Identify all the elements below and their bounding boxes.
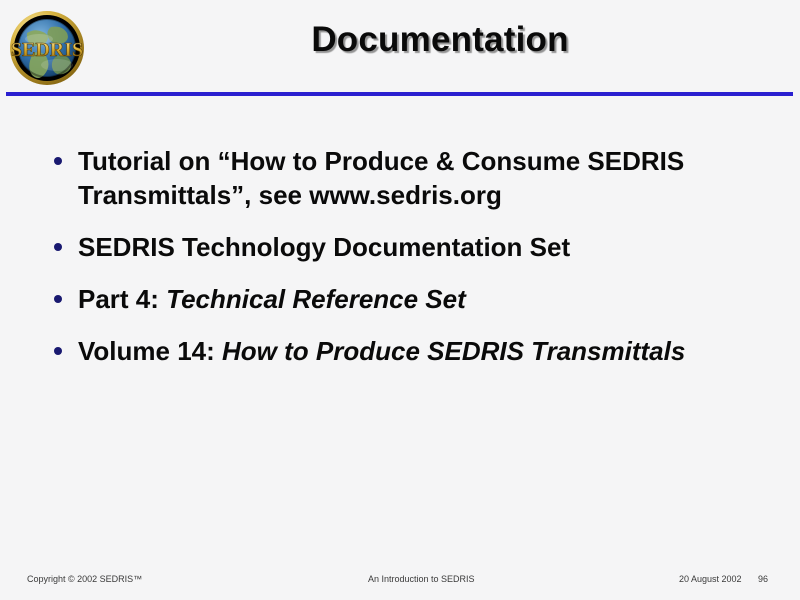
bullet-dot-icon [54, 295, 62, 303]
bullet-text-4: Volume 14: How to Produce SEDRIS Transmi… [78, 334, 760, 368]
footer-date: 20 August 2002 [679, 574, 742, 584]
bullet-list: Tutorial on “How to Produce & Consume SE… [50, 144, 760, 368]
title-divider [6, 92, 793, 96]
footer-deck-title: An Introduction to SEDRIS [368, 574, 475, 584]
bullet-text-1: Tutorial on “How to Produce & Consume SE… [78, 144, 760, 212]
list-item: SEDRIS Technology Documentation Set [50, 230, 760, 264]
list-item: Volume 14: How to Produce SEDRIS Transmi… [50, 334, 760, 368]
sedris-logo-icon: SEDRIS [7, 9, 87, 87]
bullet-text-2: SEDRIS Technology Documentation Set [78, 230, 760, 264]
slide-canvas: SEDRIS Documentation Tutorial on “How to… [0, 0, 800, 600]
sedris-logo: SEDRIS [7, 9, 87, 87]
bullet-dot-icon [54, 347, 62, 355]
bullet-dot-icon [54, 157, 62, 165]
bullet-text-3: Part 4: Technical Reference Set [78, 282, 760, 316]
list-item: Part 4: Technical Reference Set [50, 282, 760, 316]
bullet-dot-icon [54, 243, 62, 251]
list-item: Tutorial on “How to Produce & Consume SE… [50, 144, 760, 212]
sedris-logo-wordmark: SEDRIS [11, 39, 83, 61]
page-title: Documentation [110, 20, 770, 60]
footer-copyright: Copyright © 2002 SEDRIS™ [27, 574, 142, 584]
footer-page-number: 96 [758, 574, 768, 584]
